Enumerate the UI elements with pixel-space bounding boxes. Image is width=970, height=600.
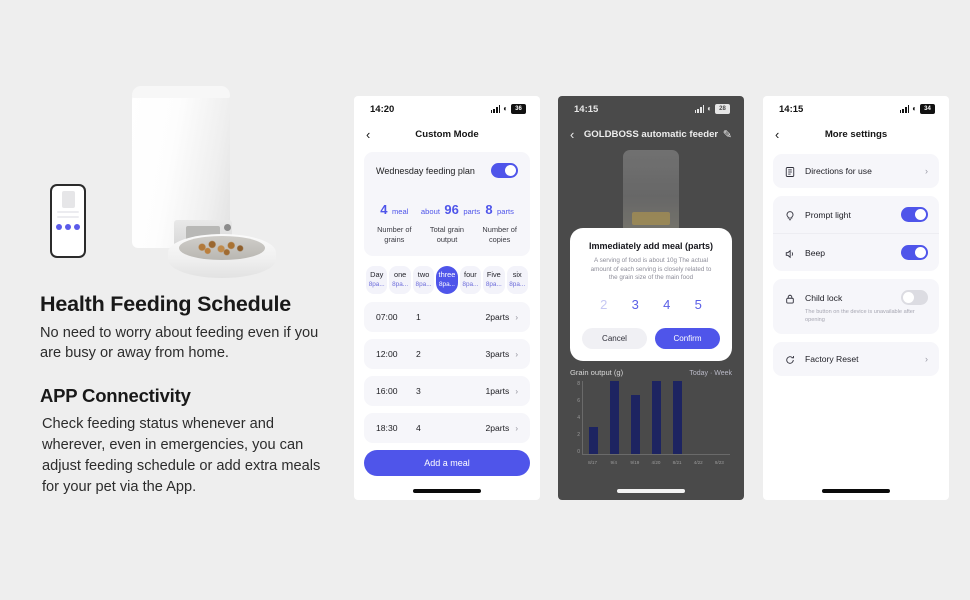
cellular-signal-icon (900, 105, 909, 113)
cellular-signal-icon (491, 105, 500, 113)
stat-prefix: about (421, 207, 440, 216)
x-tick: 4/20 (649, 460, 663, 465)
meal-row[interactable]: 16:00 3 1parts › (364, 376, 530, 406)
wifi-icon: ◐ (912, 105, 917, 113)
lock-icon (784, 292, 796, 304)
settings-group-factory-reset: Factory Reset › (773, 342, 939, 376)
meal-amount: 2parts (485, 312, 509, 322)
y-tick: 8 (577, 381, 580, 387)
settings-group-directions: Directions for use › (773, 154, 939, 188)
page-root: Health Feeding Schedule No need to worry… (0, 0, 970, 600)
day-chip-1[interactable]: one 8pa... (389, 266, 410, 294)
document-icon (784, 165, 796, 177)
wifi-icon: ◐ (707, 105, 712, 113)
companion-device-thumb (62, 191, 75, 208)
companion-line (57, 211, 79, 213)
back-icon[interactable]: ‹ (366, 128, 370, 141)
y-tick: 2 (577, 432, 580, 438)
stat-value: 4 meal (368, 202, 420, 218)
settings-row-factory-reset[interactable]: Factory Reset › (773, 342, 939, 376)
day-chip-time: 8pa... (483, 280, 504, 289)
chart-bars (582, 381, 730, 455)
status-indicators: ◐ 36 (491, 104, 526, 114)
product-photo (40, 78, 310, 278)
edit-pencil-icon[interactable]: ✎ (723, 128, 732, 141)
day-chip-time: 8pa... (436, 280, 457, 289)
portion-option-4[interactable]: 4 (663, 297, 670, 312)
day-chip-label: two (413, 270, 434, 280)
battery-icon: 28 (715, 104, 730, 114)
day-chip-time: 8pa... (413, 280, 434, 289)
x-tick: 9/23 (712, 460, 726, 465)
body-app-connectivity: Check feeding status whenever and wherev… (40, 414, 330, 498)
day-chip-2[interactable]: two 8pa... (413, 266, 434, 294)
settings-row-prompt-light[interactable]: Prompt light (773, 196, 939, 233)
chevron-right-icon: › (515, 350, 518, 359)
companion-line (57, 216, 79, 218)
stat-number: 8 (485, 202, 492, 217)
portion-picker[interactable]: 2 3 4 5 (588, 297, 714, 312)
feeding-plan-row[interactable]: Wednesday feeding plan (364, 152, 530, 189)
day-chip-5[interactable]: Five 8pa... (483, 266, 504, 294)
settings-row-label: Prompt light (805, 210, 892, 220)
settings-row-beep[interactable]: Beep (773, 233, 939, 271)
y-tick: 6 (577, 398, 580, 404)
chart-bar (610, 381, 619, 454)
battery-level: 36 (515, 106, 522, 112)
chart-plot: 8 6 4 2 0 8/179/49/194/208/214/229/23 (568, 381, 734, 469)
heading-app-connectivity: APP Connectivity (40, 385, 340, 407)
meal-index: 1 (416, 312, 485, 322)
companion-dot-icon (65, 224, 71, 230)
nav-bar: ‹ Custom Mode (354, 122, 540, 146)
phone-screen-more-settings: 14:15 ◐ 34 ‹ More settings (763, 96, 949, 500)
status-time: 14:20 (370, 104, 394, 115)
day-chip-label: four (460, 270, 481, 280)
chevron-right-icon: › (515, 313, 518, 322)
meal-row[interactable]: 18:30 4 2parts › (364, 413, 530, 443)
back-icon[interactable]: ‹ (775, 128, 779, 141)
settings-row-label: Directions for use (805, 166, 916, 176)
chevron-right-icon: › (515, 387, 518, 396)
chevron-right-icon: › (925, 354, 928, 364)
chart-bar (673, 381, 682, 454)
meal-time: 12:00 (376, 349, 416, 359)
cancel-button[interactable]: Cancel (582, 328, 647, 349)
wifi-icon: ◐ (503, 105, 508, 113)
grain-output-chart: Grain output (g) Today · Week 8 6 4 2 0 … (558, 368, 744, 469)
battery-level: 28 (719, 106, 726, 112)
battery-icon: 36 (511, 104, 526, 114)
day-chip-time: 8pa... (460, 280, 481, 289)
back-icon[interactable]: ‹ (570, 128, 574, 141)
page-title: Custom Mode (354, 129, 540, 140)
status-bar: 14:15 ◐ 34 (763, 96, 949, 122)
meal-index: 4 (416, 423, 485, 433)
prompt-light-toggle[interactable] (901, 207, 928, 222)
meal-index: 2 (416, 349, 485, 359)
settings-row-directions-for-use[interactable]: Directions for use › (773, 154, 939, 188)
x-tick: 8/21 (670, 460, 684, 465)
companion-dot-icon (74, 224, 80, 230)
battery-level: 34 (924, 106, 931, 112)
stat-caption: Number of grains (368, 225, 420, 244)
home-indicator (822, 489, 890, 493)
marketing-column: Health Feeding Schedule No need to worry… (40, 78, 340, 498)
battery-icon: 34 (920, 104, 935, 114)
meal-amount: 3parts (485, 349, 509, 359)
child-lock-description: The button on the device is unavailable … (773, 309, 939, 334)
stats-row: 4 meal Number of grains about 96 parts T… (364, 189, 530, 256)
day-chip-time: 8pa... (507, 280, 528, 289)
meal-row[interactable]: 12:00 2 3parts › (364, 339, 530, 369)
status-bar: 14:20 ◐ 36 (354, 96, 540, 122)
chart-y-axis: 8 6 4 2 0 (568, 381, 580, 455)
confirm-button[interactable]: Confirm (655, 328, 720, 349)
stat-value: 8 parts (474, 202, 526, 218)
day-chip-3-selected[interactable]: three 8pa... (436, 266, 457, 294)
chart-bar (652, 381, 661, 454)
speaker-icon (784, 247, 796, 259)
settings-group-child-lock: Child lock The button on the device is u… (773, 279, 939, 334)
phone-screen-device-detail: 14:15 ◐ 28 ‹ GOLDBOSS automatic feeder ✎… (558, 96, 744, 500)
meal-amount: 2parts (485, 423, 509, 433)
companion-phone-mockup (50, 184, 86, 258)
meal-index: 3 (416, 386, 485, 396)
x-tick: 4/22 (691, 460, 705, 465)
child-lock-toggle[interactable] (901, 290, 928, 305)
meal-amount: 1parts (485, 386, 509, 396)
chart-title: Grain output (g) (570, 368, 623, 377)
y-tick: 4 (577, 415, 580, 421)
settings-row-label: Factory Reset (805, 354, 916, 364)
heading-health-feeding-schedule: Health Feeding Schedule (40, 292, 340, 317)
pet-food-kibble (192, 239, 248, 256)
day-selector: Day 8pa... one 8pa... two 8pa... three 8… (364, 263, 530, 297)
x-tick: 9/19 (628, 460, 642, 465)
page-title: More settings (763, 129, 949, 140)
chart-x-axis: 8/179/49/194/208/214/229/23 (582, 456, 730, 469)
meal-row[interactable]: 07:00 1 2parts › (364, 302, 530, 332)
home-indicator (617, 489, 685, 493)
settings-group-alerts: Prompt light Beep (773, 196, 939, 271)
feeder-sensor-icon (224, 224, 231, 231)
stat-value: about 96 parts (421, 202, 473, 218)
device-photo (623, 150, 679, 234)
phone-screen-custom-mode: 14:20 ◐ 36 ‹ Custom Mode Wednesday feedi… (354, 96, 540, 500)
status-indicators: ◐ 34 (900, 104, 935, 114)
add-meal-button[interactable]: Add a meal (364, 450, 530, 476)
day-chip-time: 8pa... (366, 280, 387, 289)
day-chip-label: Five (483, 270, 504, 280)
companion-dot-icon (56, 224, 62, 230)
x-tick: 8/17 (586, 460, 600, 465)
day-chip-4[interactable]: four 8pa... (460, 266, 481, 294)
cellular-signal-icon (695, 105, 704, 113)
dialog-subtitle: A serving of food is about 10g The actua… (582, 257, 720, 283)
body-health-feeding-schedule: No need to worry about feeding even if y… (40, 323, 325, 363)
stat-number: 4 (380, 202, 387, 217)
custom-mode-body: Wednesday feeding plan 4 meal Number of … (354, 146, 540, 476)
chart-bar (631, 395, 640, 454)
chevron-right-icon: › (515, 424, 518, 433)
settings-row-label: Beep (805, 248, 892, 258)
stat-caption: Total grain output (421, 225, 473, 244)
x-tick: 9/4 (607, 460, 621, 465)
meal-time: 16:00 (376, 386, 416, 396)
stat-total-grain-output: about 96 parts Total grain output (421, 202, 473, 244)
stat-caption: Number of copies (474, 225, 526, 244)
stat-number: 96 (444, 202, 458, 217)
portion-option-3[interactable]: 3 (632, 297, 639, 312)
stat-unit: meal (392, 207, 408, 216)
lightbulb-icon (784, 209, 796, 221)
settings-row-label: Child lock (805, 293, 892, 303)
add-meal-dialog: Immediately add meal (parts) A serving o… (570, 228, 732, 361)
chart-range-selector[interactable]: Today · Week (689, 370, 732, 377)
nav-bar: ‹ More settings (763, 122, 949, 146)
chart-bar (589, 427, 598, 454)
plan-card: Wednesday feeding plan 4 meal Number of … (364, 152, 530, 256)
status-time: 14:15 (574, 104, 598, 115)
feeder-lid (132, 86, 230, 98)
day-chip-0[interactable]: Day 8pa... (366, 266, 387, 294)
day-chip-label: Day (366, 270, 387, 280)
y-tick: 0 (577, 449, 580, 455)
day-chip-label: six (507, 270, 528, 280)
home-indicator (413, 489, 481, 493)
dialog-actions: Cancel Confirm (582, 328, 720, 349)
meal-time: 18:30 (376, 423, 416, 433)
page-title: GOLDBOSS automatic feeder (558, 129, 744, 140)
stat-unit: parts (497, 207, 514, 216)
settings-list: Directions for use › Prompt light (763, 146, 949, 376)
beep-toggle[interactable] (901, 245, 928, 260)
stat-number-of-grains: 4 meal Number of grains (368, 202, 420, 244)
meal-time: 07:00 (376, 312, 416, 322)
portion-option-2[interactable]: 2 (600, 297, 607, 312)
dialog-title: Immediately add meal (parts) (582, 241, 720, 251)
day-chip-label: three (436, 270, 457, 280)
portion-option-5[interactable]: 5 (695, 297, 702, 312)
companion-action-dots (56, 224, 80, 230)
day-chip-6[interactable]: six 8pa... (507, 266, 528, 294)
status-bar: 14:15 ◐ 28 (558, 96, 744, 122)
companion-phone-screen (52, 186, 84, 256)
refresh-icon (784, 353, 796, 365)
nav-bar: ‹ GOLDBOSS automatic feeder ✎ (558, 122, 744, 146)
stat-number-of-copies: 8 parts Number of copies (474, 202, 526, 244)
day-chip-time: 8pa... (389, 280, 410, 289)
chevron-right-icon: › (925, 166, 928, 176)
feeding-plan-toggle[interactable] (491, 163, 518, 178)
chart-header: Grain output (g) Today · Week (568, 368, 734, 381)
status-time: 14:15 (779, 104, 803, 115)
day-chip-label: one (389, 270, 410, 280)
feeding-plan-label: Wednesday feeding plan (376, 166, 475, 176)
status-indicators: ◐ 28 (695, 104, 730, 114)
